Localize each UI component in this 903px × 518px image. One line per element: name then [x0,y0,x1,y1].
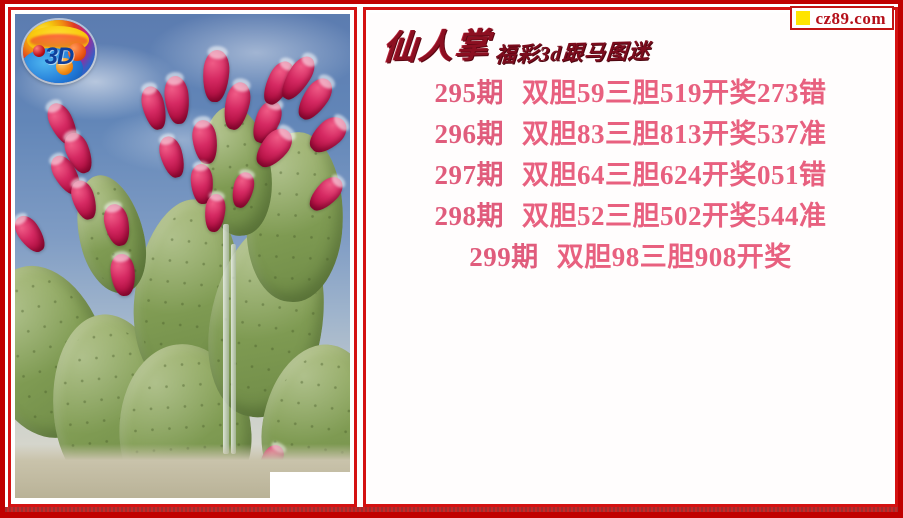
forecast-issue: 297期 [435,153,505,192]
site-logo-text: cz89.com [815,10,886,27]
badge-label: 3D [23,45,95,69]
forecast-issue: 299期 [469,235,539,274]
cactus-image-panel: 3D [8,7,357,507]
photo-blank-overlay [270,472,350,498]
forecast-row: 298期 双胆52三胆502开奖544准 [369,194,892,235]
forecast-body: 双胆83三胆813开奖537准 [522,112,827,151]
bottom-border-shade [5,507,898,512]
title-sub-text: 福彩3d跟马图迷 [494,41,651,66]
title-main-text: 仙人掌 [382,30,493,67]
forecast-issue: 296期 [435,112,505,151]
cactus-stalk [231,244,236,454]
forecast-body: 双胆98三胆908开奖 [557,235,792,274]
forecast-row: 296期 双胆83三胆813开奖537准 [369,112,892,153]
forecast-panel-inner: 仙人掌 福彩3d跟马图迷 295期 双胆59三胆519开奖273错 296期 双… [369,13,892,501]
forecast-row: 299期 双胆98三胆908开奖 [369,235,892,276]
forecast-row: 297期 双胆64三胆624开奖051错 [369,153,892,194]
page-title: 仙人掌 福彩3d跟马图迷 [383,19,650,65]
forecast-issue: 295期 [435,71,505,110]
site-logo[interactable]: cz89.com [790,6,894,30]
forecast-row: 295期 双胆59三胆519开奖273错 [369,71,892,112]
forecast-body: 双胆59三胆519开奖273错 [522,71,827,110]
forecast-panel: 仙人掌 福彩3d跟马图迷 295期 双胆59三胆519开奖273错 296期 双… [363,7,898,507]
forecast-body: 双胆52三胆502开奖544准 [522,194,827,233]
cactus-photo: 3D [15,14,350,498]
forecast-row-list: 295期 双胆59三胆519开奖273错 296期 双胆83三胆813开奖537… [369,71,892,276]
yellow-square-icon [796,11,810,25]
lottery-3d-badge-icon: 3D [23,20,95,83]
forecast-body: 双胆64三胆624开奖051错 [522,153,827,192]
page-root: 3D 仙人掌 福彩3d跟马图迷 295期 双胆59三胆519开奖273错 296… [0,0,903,518]
cactus-stalk [223,224,229,454]
forecast-issue: 298期 [435,194,505,233]
